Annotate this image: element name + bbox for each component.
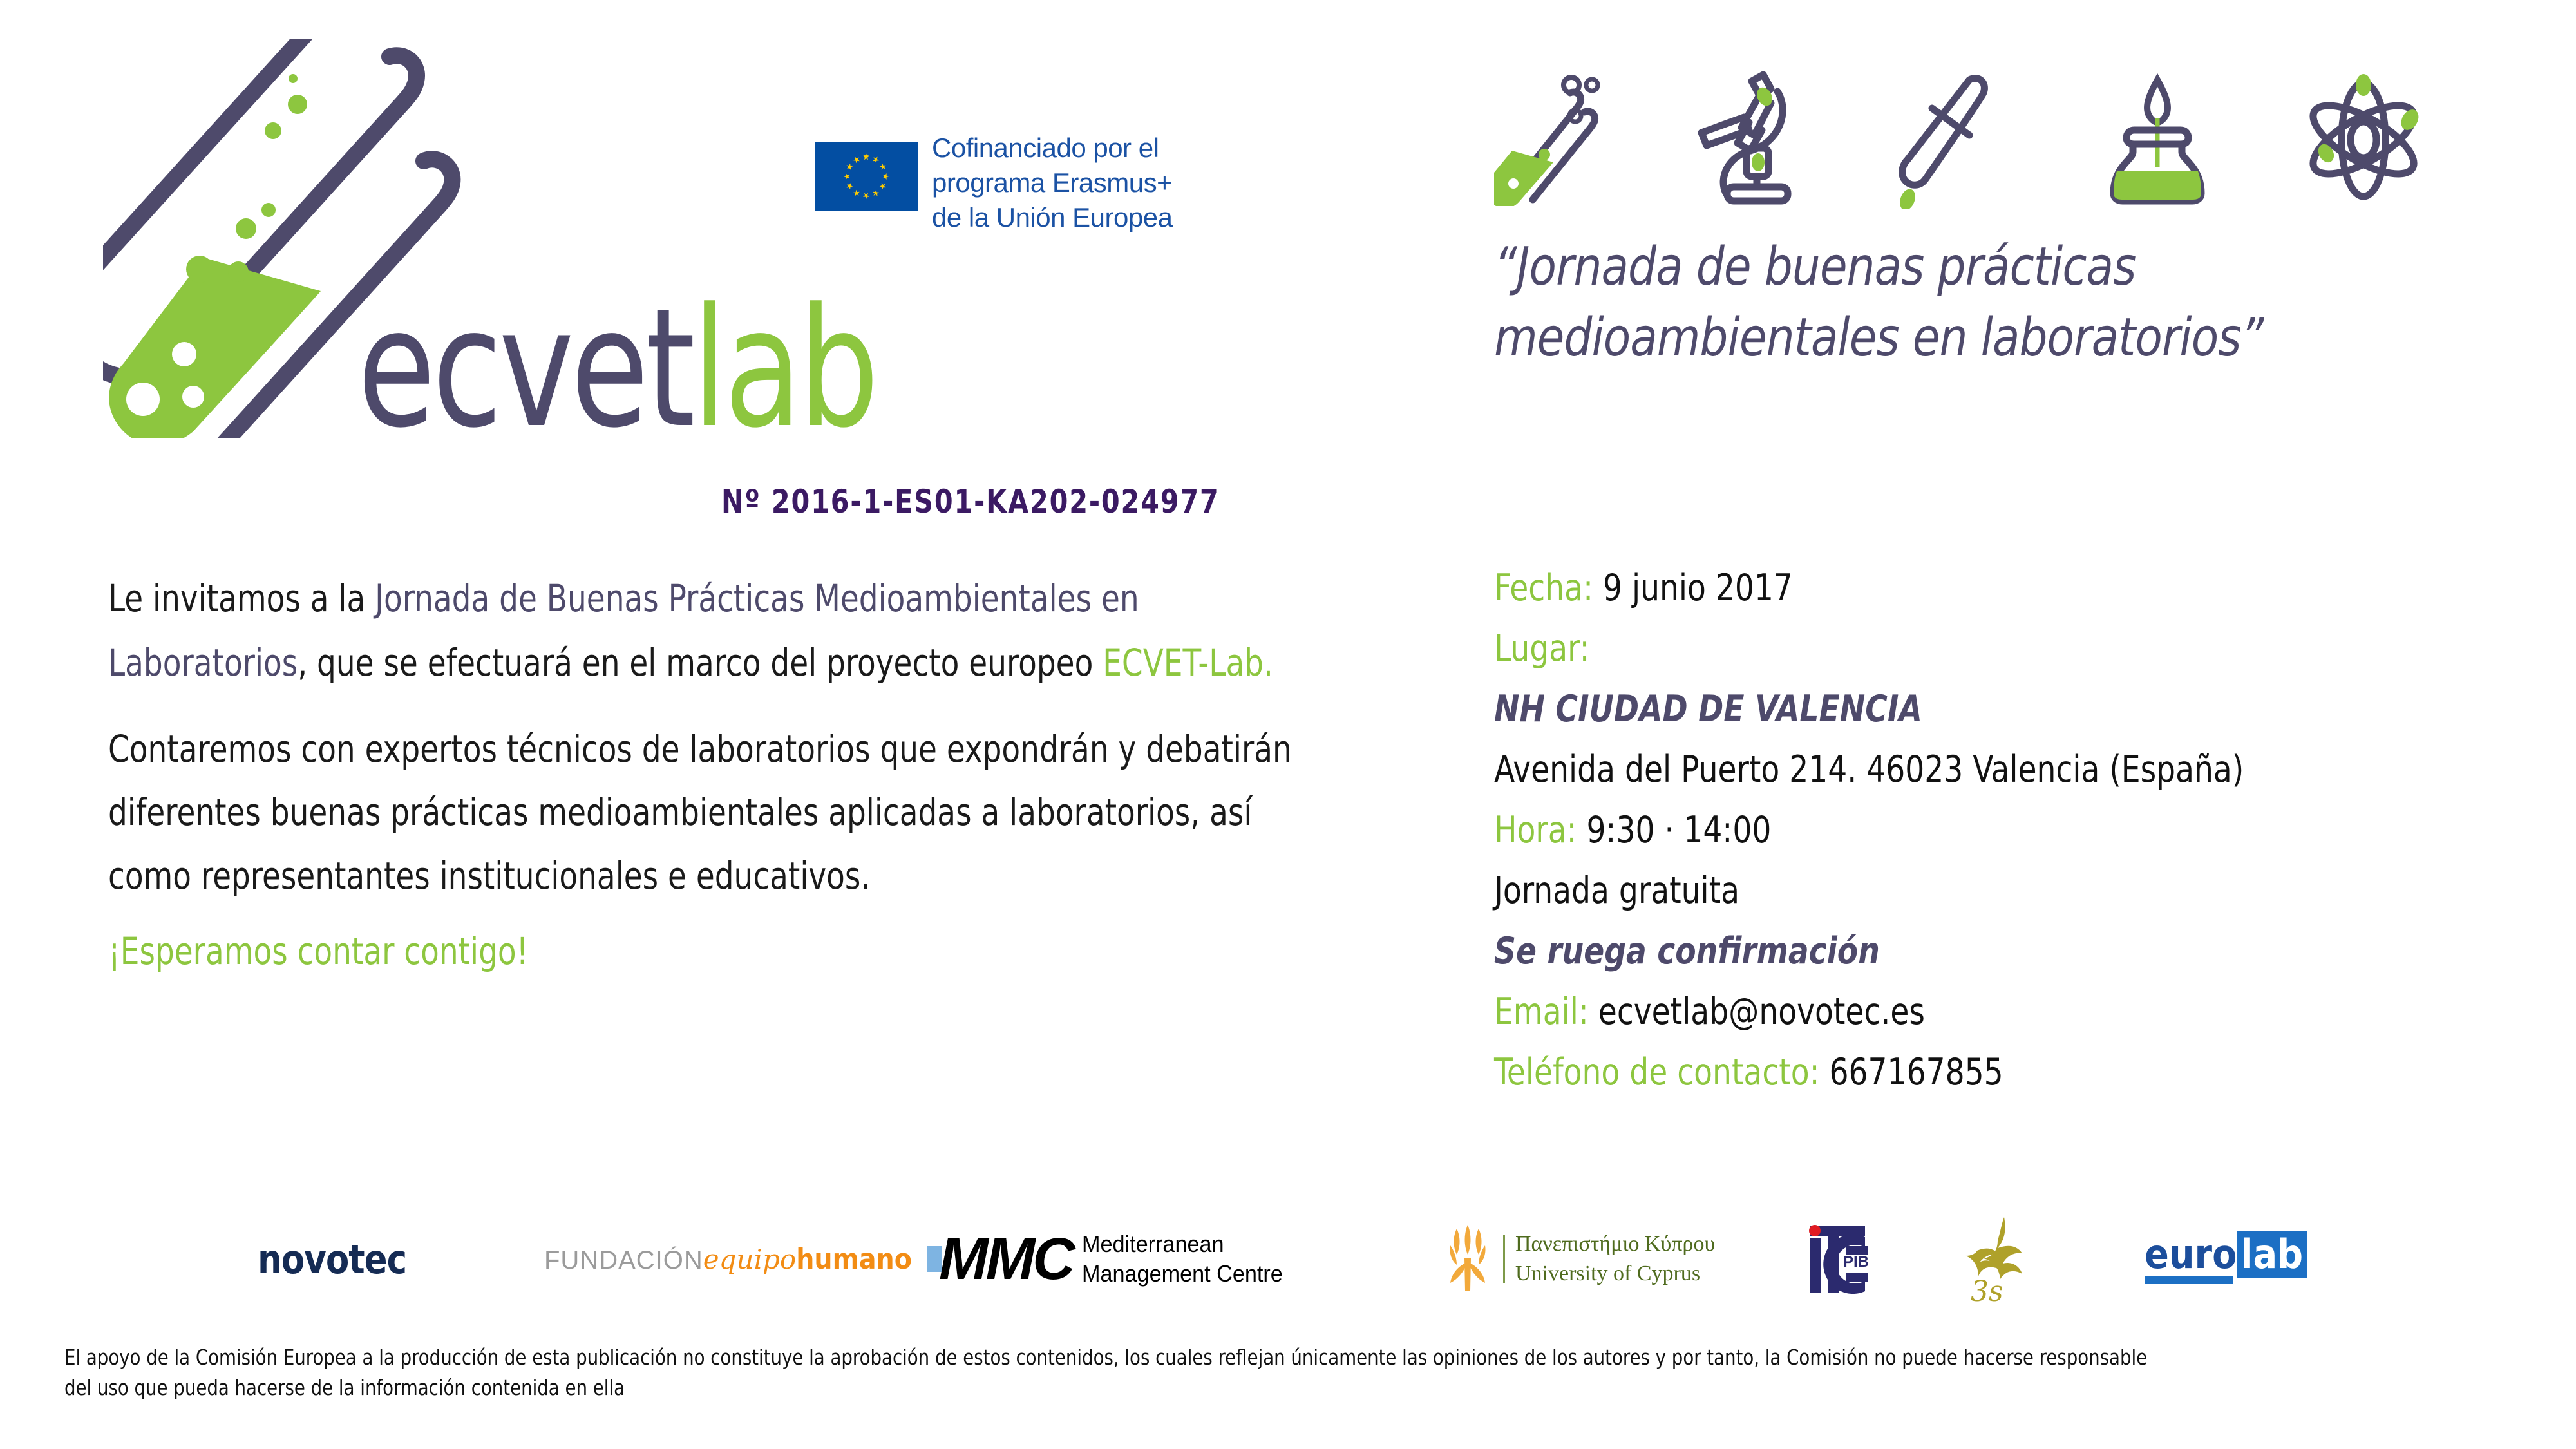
fecha-value: 9 junio 2017 bbox=[1603, 567, 1793, 609]
atom-icon bbox=[2299, 71, 2428, 209]
divider bbox=[1503, 1235, 1505, 1283]
invitation-body: Le invitamos a la Jornada de Buenas Prác… bbox=[108, 567, 1312, 973]
event-title: “Jornada de buenas prácticas medioambien… bbox=[1494, 232, 2475, 374]
feh-part3: humano bbox=[796, 1243, 912, 1276]
feh-part1: FUNDACIÓN bbox=[544, 1246, 703, 1274]
telefono-value: 667167855 bbox=[1830, 1051, 2003, 1094]
p1-seg-project: ECVET-Lab. bbox=[1103, 641, 1273, 685]
invitation-paragraph-1: Le invitamos a la Jornada de Buenas Prác… bbox=[108, 567, 1302, 696]
event-details: Fecha: 9 junio 2017 Lugar: NH CIUDAD DE … bbox=[1494, 570, 2454, 1115]
partner-logo-row: novotec FUNDACIÓNequipohumano MMC Medite… bbox=[0, 1204, 2576, 1320]
detail-fecha: Fecha: 9 junio 2017 bbox=[1494, 570, 2454, 607]
flask-burner-icon bbox=[2093, 71, 2222, 209]
ite-pib-icon: PIB bbox=[1803, 1214, 1887, 1304]
wheat-icon bbox=[1443, 1224, 1493, 1294]
eu-text-line2: programa Erasmus+ bbox=[932, 166, 1172, 200]
detail-venue: NH CIUDAD DE VALENCIA bbox=[1494, 691, 2454, 728]
logo-wordmark-green: lab bbox=[692, 273, 876, 464]
mmc-line2: Management Centre bbox=[1082, 1259, 1283, 1289]
ucy-line1: Πανεπιστήμιο Κύπρου bbox=[1515, 1229, 1715, 1259]
disclaimer-line1: El apoyo de la Comisión Europea a la pro… bbox=[64, 1343, 2358, 1373]
logo-wordmark-dark: ecvet bbox=[357, 273, 692, 464]
partner-logo-mmc: MMC Mediterranean Management Centre bbox=[927, 1204, 1293, 1314]
partner-logo-university-of-cyprus: Πανεπιστήμιο Κύπρου University of Cyprus bbox=[1443, 1204, 1715, 1314]
disclaimer-line2: del uso que pueda hacerse de la informac… bbox=[64, 1373, 2358, 1403]
3s-flower-icon: 3s bbox=[1958, 1211, 2041, 1307]
eurolab-part2: lab bbox=[2237, 1231, 2307, 1278]
mmc-mark: MMC bbox=[939, 1229, 1073, 1289]
hora-label: Hora: bbox=[1494, 809, 1577, 851]
3s-label: 3s bbox=[1971, 1275, 2003, 1307]
eu-text-line1: Cofinanciado por el bbox=[932, 131, 1172, 166]
p1-seg-c: , que se efectuará en el marco del proye… bbox=[298, 641, 1103, 685]
eu-cofunding-badge: Cofinanciado por el programa Erasmus+ de… bbox=[815, 132, 1175, 261]
detail-telefono: Teléfono de contacto: 667167855 bbox=[1494, 1054, 2454, 1091]
partner-logo-eurolab: eurolab bbox=[2145, 1204, 2307, 1314]
microscope-icon bbox=[1687, 71, 1816, 206]
eurolab-part1: euro bbox=[2145, 1231, 2237, 1278]
feh-part2: equipo bbox=[703, 1244, 796, 1275]
eurolab-underline bbox=[2145, 1276, 2233, 1284]
partner-logo-fundacion-equipo-humano: FUNDACIÓNequipohumano bbox=[544, 1204, 912, 1314]
p1-seg-a: Le invitamos a la bbox=[108, 576, 375, 620]
lab-icon-row bbox=[1494, 71, 2473, 206]
invitation-closing: ¡Esperamos contar contigo! bbox=[108, 929, 1192, 973]
detail-confirmacion: Se ruega confirmación bbox=[1494, 933, 2454, 970]
eu-text-line3: de la Unión Europea bbox=[932, 200, 1172, 235]
detail-email: Email: ecvetlab@novotec.es bbox=[1494, 994, 2454, 1030]
partner-logo-novotec: novotec bbox=[258, 1204, 414, 1314]
test-tube-icon bbox=[1494, 71, 1616, 206]
ite-pib-sub: PIB bbox=[1843, 1253, 1869, 1271]
ecvetlab-logo-block: ecvetlab bbox=[103, 39, 1108, 489]
fecha-label: Fecha: bbox=[1494, 567, 1593, 609]
pipette-icon bbox=[1893, 71, 2009, 209]
novotec-wordmark: novotec bbox=[258, 1236, 406, 1283]
lugar-label: Lugar: bbox=[1494, 627, 1589, 670]
logo-wordmark: ecvetlab bbox=[357, 287, 876, 451]
eu-flag-icon bbox=[815, 142, 918, 211]
ucy-line2: University of Cyprus bbox=[1515, 1259, 1715, 1289]
poster-canvas: ecvetlab bbox=[0, 0, 2576, 1449]
eu-cofunding-text: Cofinanciado por el programa Erasmus+ de… bbox=[932, 131, 1172, 234]
email-label: Email: bbox=[1494, 990, 1589, 1033]
detail-lugar-label: Lugar: bbox=[1494, 630, 2454, 667]
partner-logo-3s: 3s bbox=[1958, 1204, 2041, 1314]
partner-logo-ite-pib: PIB bbox=[1803, 1204, 1887, 1314]
detail-address: Avenida del Puerto 214. 46023 Valencia (… bbox=[1494, 752, 2454, 788]
invitation-paragraph-2: Contaremos con expertos técnicos de labo… bbox=[108, 717, 1302, 908]
hora-value: 9:30 · 14:00 bbox=[1587, 809, 1772, 851]
detail-hora: Hora: 9:30 · 14:00 bbox=[1494, 812, 2454, 849]
project-number: Nº 2016-1-ES01-KA202-024977 bbox=[721, 483, 1220, 520]
detail-gratuita: Jornada gratuita bbox=[1494, 873, 2454, 909]
mmc-line1: Mediterranean bbox=[1082, 1229, 1283, 1259]
eu-disclaimer: El apoyo de la Comisión Europea a la pro… bbox=[64, 1343, 2358, 1403]
telefono-label: Teléfono de contacto: bbox=[1494, 1051, 1820, 1094]
email-value[interactable]: ecvetlab@novotec.es bbox=[1598, 990, 1925, 1033]
